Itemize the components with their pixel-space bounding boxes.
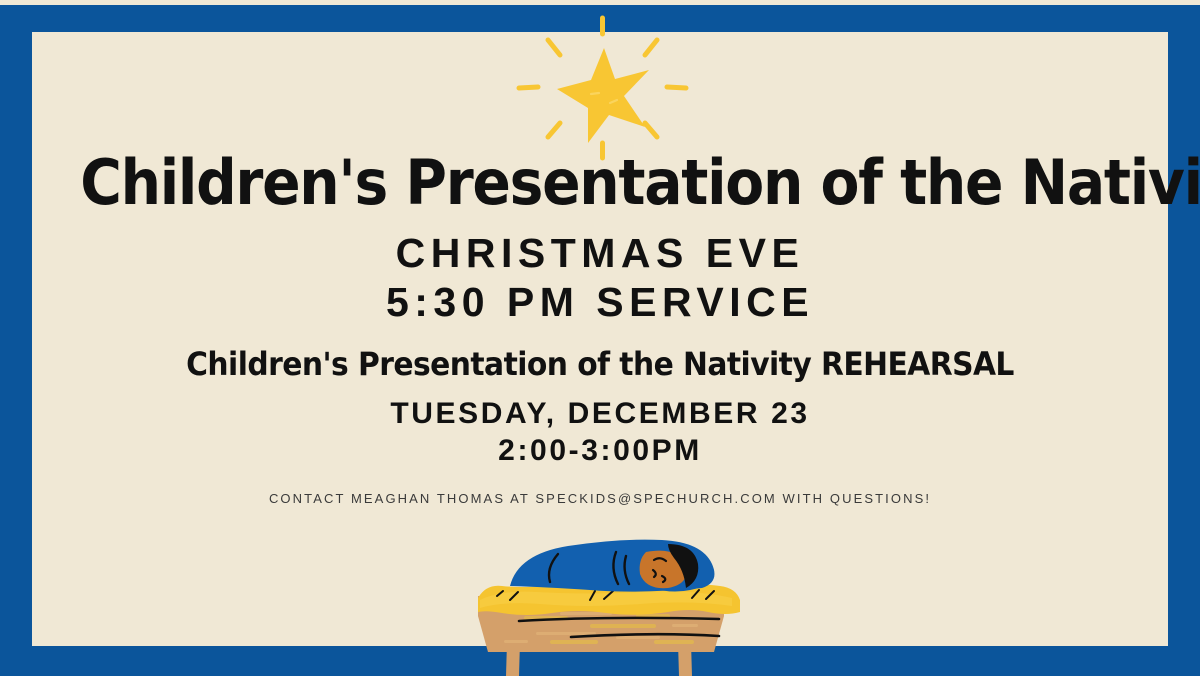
- rehearsal-time: 2:00-3:00PM: [32, 433, 1168, 469]
- top-edge-sliver: [0, 0, 1200, 5]
- service-line-1: CHRISTMAS EVE: [32, 230, 1168, 278]
- page-title: Children's Presentation of the Nativity: [80, 150, 1119, 216]
- contact-line: CONTACT MEAGHAN THOMAS AT SPECKIDS@SPECH…: [32, 491, 1168, 506]
- service-line-2: 5:30 PM SERVICE: [32, 279, 1168, 327]
- text-block: Children's Presentation of the Nativity …: [32, 150, 1168, 506]
- nativity-flyer: Children's Presentation of the Nativity …: [0, 0, 1200, 676]
- manger-with-baby-icon: [440, 520, 770, 676]
- rehearsal-heading: Children's Presentation of the Nativity …: [72, 347, 1128, 382]
- rehearsal-date: TUESDAY, DECEMBER 23: [32, 396, 1168, 432]
